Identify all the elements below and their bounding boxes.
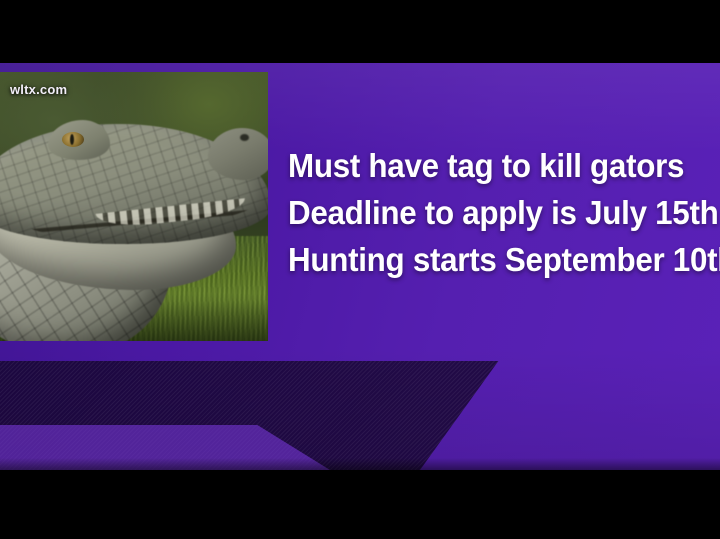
alligator-snout-tip [208, 128, 268, 180]
news-graphic-panel: wltx.com Must have tag to kill gators De… [0, 63, 720, 470]
letterbox-bar-bottom [0, 470, 720, 539]
headline-line-3: Hunting starts September 10th [288, 236, 678, 283]
video-frame: wltx.com Must have tag to kill gators De… [0, 0, 720, 539]
alligator-photo: wltx.com [0, 72, 268, 341]
station-watermark: wltx.com [10, 82, 67, 97]
headline-line-1: Must have tag to kill gators [288, 142, 678, 189]
headline-list: Must have tag to kill gators Deadline to… [288, 142, 698, 283]
letterbox-bar-top [0, 0, 720, 63]
alligator-nostril [240, 134, 249, 141]
alligator-pupil [70, 134, 74, 145]
headline-line-2: Deadline to apply is July 15th [288, 189, 678, 236]
